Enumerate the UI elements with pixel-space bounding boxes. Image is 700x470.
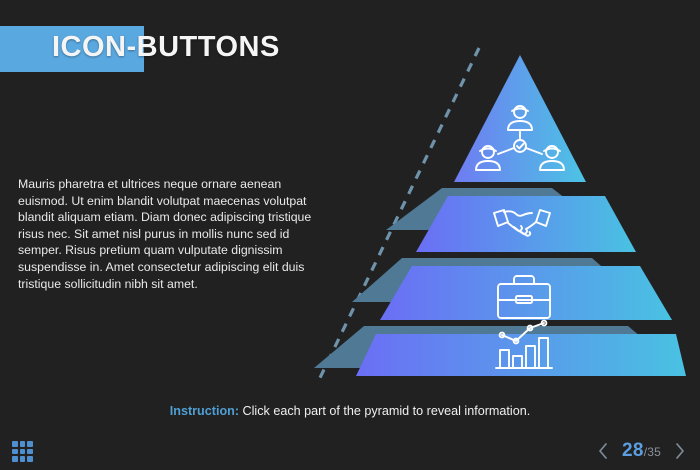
pyramid-tier-1[interactable] <box>454 55 586 182</box>
instruction-label: Instruction: <box>170 404 239 418</box>
grid-cell <box>27 456 33 462</box>
pager: 28/35 <box>597 437 686 465</box>
grid-cell <box>20 449 26 455</box>
grid-cell <box>20 441 26 447</box>
grid-cell <box>27 441 33 447</box>
instruction-line: Instruction: Click each part of the pyra… <box>0 404 700 418</box>
pager-total-pages: /35 <box>644 445 661 459</box>
body-paragraph: Mauris pharetra et ultrices neque ornare… <box>18 176 323 292</box>
pyramid-tier-3[interactable] <box>380 266 672 320</box>
pager-current-page: 28 <box>622 440 644 461</box>
grid-cell <box>12 456 18 462</box>
grid-cell <box>27 449 33 455</box>
chevron-right-icon[interactable] <box>672 441 686 461</box>
chevron-left-icon[interactable] <box>597 441 611 461</box>
instruction-text: Click each part of the pyramid to reveal… <box>239 404 530 418</box>
slide-canvas: ICON-BUTTONS Mauris pharetra et ultrices… <box>0 0 700 470</box>
grid-cell <box>12 441 18 447</box>
grid-menu-icon[interactable] <box>12 441 33 462</box>
pager-numbers: 28/35 <box>622 440 661 462</box>
pyramid-tier-2[interactable] <box>416 196 636 252</box>
grid-cell <box>20 456 26 462</box>
grid-cell <box>12 449 18 455</box>
pyramid-graphic <box>290 30 700 395</box>
page-title: ICON-BUTTONS <box>52 31 280 64</box>
